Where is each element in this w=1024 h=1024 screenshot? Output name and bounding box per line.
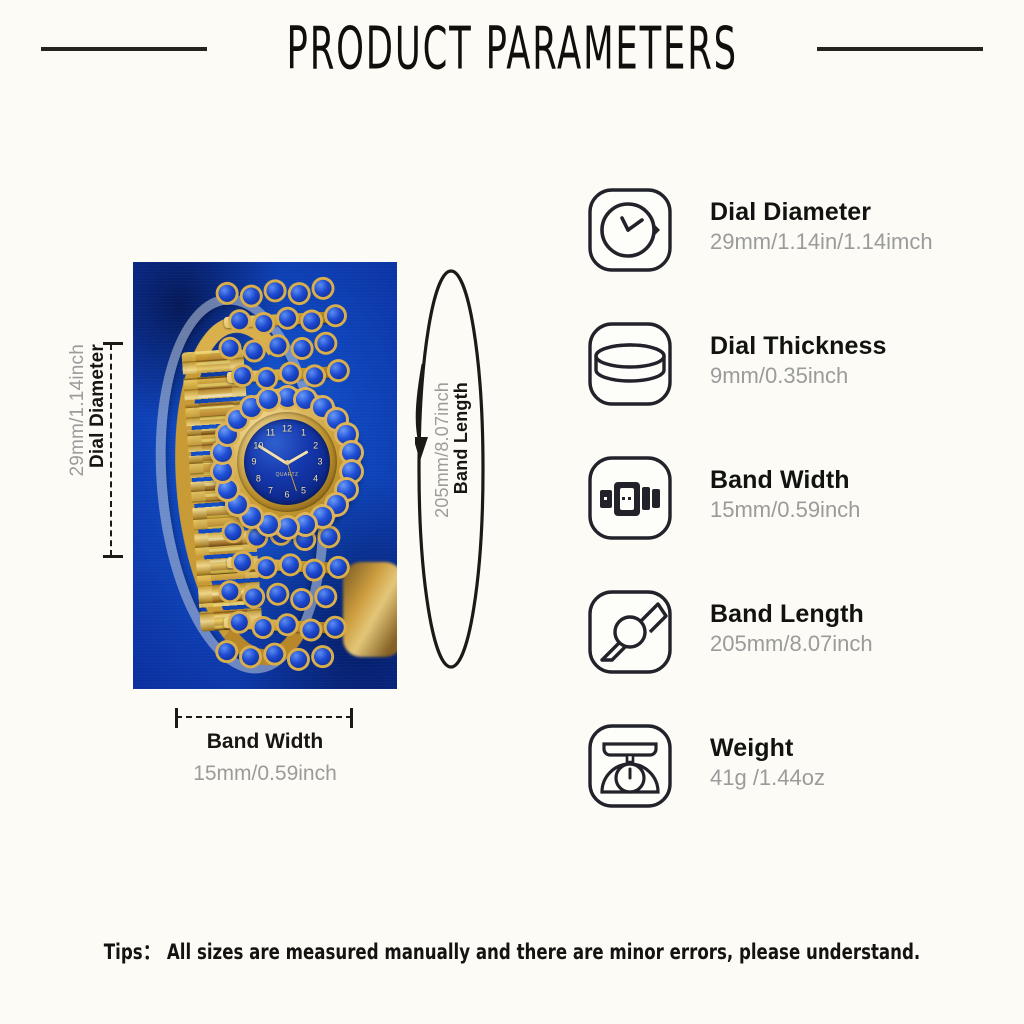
dial-quartz-text: QUARTZ [276, 472, 299, 478]
bracelet-stone [314, 648, 332, 666]
bracelet-stone [269, 337, 287, 355]
bracelet-stone [279, 309, 297, 327]
watch-diagonal-icon [586, 588, 674, 676]
dial-numeral: 4 [313, 474, 318, 483]
bezel-stone [213, 443, 232, 462]
dial-center-pin [285, 460, 290, 465]
dial-numeral: 3 [317, 458, 322, 467]
dial-numeral: 6 [284, 491, 289, 500]
bracelet-stone [326, 618, 344, 636]
clock-icon [586, 186, 674, 274]
bezel-stone [342, 443, 361, 462]
bracelet-stone [306, 366, 324, 384]
bezel-stone [218, 480, 237, 499]
band-width-callout-title: Band Width [0, 730, 530, 754]
cylinder-icon [586, 320, 674, 408]
header-rule-left [41, 47, 207, 51]
bracelet-stone [234, 366, 252, 384]
watch-case: QUARTZ 121234567891011 [213, 388, 361, 536]
kitchen-scale-icon [586, 722, 674, 810]
spec-text-dial-thickness: Dial Thickness 9mm/0.35inch [710, 332, 1010, 390]
band-length-callout: Band Length 205mm/8.07inch [413, 382, 491, 612]
spec-label-band-width: Band Width [710, 466, 1010, 494]
page-header: PRODUCT PARAMETERS [0, 18, 1024, 80]
measure-cap-right [350, 708, 353, 728]
watch-strap-icon [586, 454, 674, 542]
spec-row-weight: Weight 41g /1.44oz [586, 722, 1006, 856]
band-width-measure-line [176, 716, 352, 720]
spec-value-dial-thickness: 9mm/0.35inch [710, 362, 1010, 390]
bracelet-stone [329, 361, 347, 379]
band-length-callout-title: Band Length [452, 382, 471, 494]
spec-text-band-width: Band Width 15mm/0.59inch [710, 466, 1010, 524]
measure-cap-left [175, 708, 178, 728]
bracelet-stone [326, 306, 344, 324]
bracelet-stone [218, 643, 236, 661]
bracelet-stone [218, 284, 236, 302]
bracelet-stone [302, 621, 320, 639]
bezel-stone [296, 515, 315, 534]
spec-value-band-width: 15mm/0.59inch [710, 496, 1010, 524]
dial-diameter-callout: Dial Diameter 29mm/1.14inch [52, 344, 108, 560]
dial-numeral: 2 [313, 441, 318, 450]
bracelet-stones-bottom [213, 523, 353, 680]
bracelet-stone [221, 583, 239, 601]
dial-diameter-callout-title: Dial Diameter [88, 344, 108, 468]
dial-numeral: 7 [268, 486, 273, 495]
dial-diameter-callout-value: 29mm/1.14inch [68, 344, 88, 477]
bezel-stone [278, 518, 297, 537]
bracelet-stone [305, 561, 323, 579]
bezel-stone [259, 390, 278, 409]
dial-numeral: 12 [282, 425, 292, 434]
spec-label-dial-thickness: Dial Thickness [710, 332, 1010, 360]
watch-dial: QUARTZ 121234567891011 [244, 419, 330, 505]
bracelet-stone [290, 650, 308, 668]
bracelet-stone [242, 287, 260, 305]
bezel-stone [342, 462, 361, 481]
bracelet-stone [293, 340, 311, 358]
spec-row-dial-diameter: Dial Diameter 29mm/1.14in/1.14imch [586, 186, 1006, 320]
bracelet-stone [221, 339, 239, 357]
bracelet-stone [303, 312, 321, 330]
spec-text-dial-diameter: Dial Diameter 29mm/1.14in/1.14imch [710, 198, 1010, 256]
bracelet-stone [245, 588, 263, 606]
dial-numeral: 5 [301, 486, 306, 495]
bracelet-stone [257, 559, 275, 577]
spec-row-band-width: Band Width 15mm/0.59inch [586, 454, 1006, 588]
bezel-stone [213, 462, 232, 481]
bracelet-stone [314, 279, 332, 297]
dial-numeral: 9 [251, 458, 256, 467]
spec-row-dial-thickness: Dial Thickness 9mm/0.35inch [586, 320, 1006, 454]
page-title: PRODUCT PARAMETERS [286, 20, 737, 79]
tips-note: Tips： All sizes are measured manually an… [61, 936, 962, 966]
bracelet-stone [231, 311, 249, 329]
hour-hand [286, 450, 308, 465]
bracelet-stone [281, 364, 299, 382]
bezel-stone [259, 515, 278, 534]
watch-case-inner: QUARTZ 121234567891011 [237, 412, 337, 512]
bezel-stone [313, 507, 332, 526]
band-length-callout-value: 205mm/8.07inch [433, 382, 452, 518]
bracelet-stone [293, 591, 311, 609]
bezel-stone [296, 390, 315, 409]
bracelet-stone [317, 588, 335, 606]
bracelet-stone [242, 648, 260, 666]
dial-numeral: 11 [266, 429, 275, 438]
spec-row-band-length: Band Length 205mm/8.07inch [586, 588, 1006, 722]
bracelet-stone [266, 645, 284, 663]
bracelet-stone [258, 369, 276, 387]
product-parameters-page: PRODUCT PARAMETERS QUARTZ [0, 0, 1024, 1024]
spec-value-band-length: 205mm/8.07inch [710, 630, 1010, 658]
bezel-stone [278, 388, 297, 407]
bracelet-stone [245, 342, 263, 360]
spec-text-band-length: Band Length 205mm/8.07inch [710, 600, 1010, 658]
dial-diameter-measure-line [110, 344, 114, 556]
spec-label-band-length: Band Length [710, 600, 1010, 628]
bracelet-stones-top [214, 279, 352, 396]
spec-text-weight: Weight 41g /1.44oz [710, 734, 1010, 792]
bracelet-stone [290, 285, 308, 303]
spec-value-weight: 41g /1.44oz [710, 764, 1010, 792]
spec-value-dial-diameter: 29mm/1.14in/1.14imch [710, 228, 1010, 256]
dial-numeral: 1 [301, 429, 306, 438]
bracelet-stone [255, 314, 273, 332]
bracelet-stone [269, 585, 287, 603]
band-width-callout-value: 15mm/0.59inch [0, 762, 530, 786]
bracelet-stone [317, 334, 335, 352]
watch-illustration: QUARTZ 121234567891011 [155, 276, 375, 676]
spec-list: Dial Diameter 29mm/1.14in/1.14imch Dial … [586, 186, 1006, 856]
product-photo: QUARTZ 121234567891011 [133, 262, 397, 689]
bracelet-stone [266, 282, 284, 300]
dial-numeral: 8 [256, 474, 261, 483]
header-rule-right [817, 47, 983, 51]
dial-numeral: 10 [253, 441, 263, 450]
spec-label-dial-diameter: Dial Diameter [710, 198, 1010, 226]
spec-label-weight: Weight [710, 734, 1010, 762]
bracelet-stone [329, 558, 347, 576]
bezel-stone [337, 425, 356, 444]
bracelet-stone [254, 619, 272, 637]
